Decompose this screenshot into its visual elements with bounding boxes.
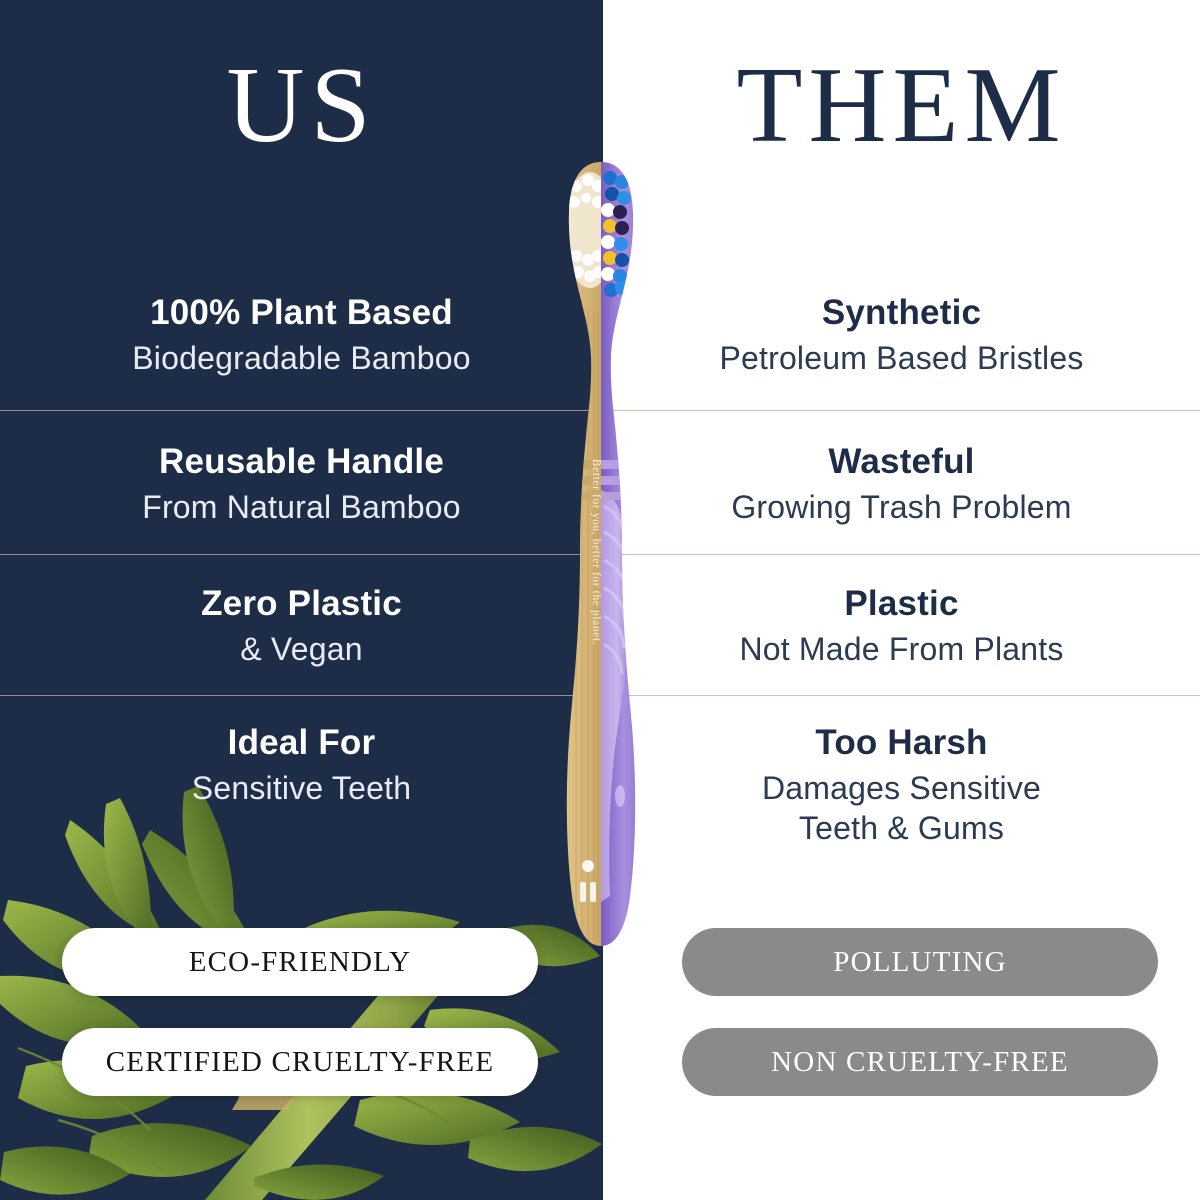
row-4-them-cell: Too Harsh Damages Sensitive Teeth & Gums — [603, 722, 1200, 848]
row-1-us-title: 100% Plant Based — [0, 292, 603, 333]
badge-non-cruelty-free[interactable]: NON CRUELTY-FREE — [682, 1028, 1158, 1096]
row-4-them-sub-1: Damages Sensitive — [603, 770, 1200, 808]
row-3-us-cell: Zero Plastic & Vegan — [0, 583, 603, 669]
row-2-us-title: Reusable Handle — [0, 441, 603, 482]
row-2-them-title: Wasteful — [603, 441, 1200, 482]
row-2-them-sub: Growing Trash Problem — [603, 489, 1200, 527]
row-3-them-cell: Plastic Not Made From Plants — [603, 583, 1200, 669]
row-3-them-title: Plastic — [603, 583, 1200, 624]
badge-polluting[interactable]: POLLUTING — [682, 928, 1158, 996]
row-1-us-cell: 100% Plant Based Biodegradable Bamboo — [0, 292, 603, 378]
row-3-us-sub: & Vegan — [0, 631, 603, 669]
row-3-us-title: Zero Plastic — [0, 583, 603, 624]
row-2-them-cell: Wasteful Growing Trash Problem — [603, 441, 1200, 527]
row-4-them-sub-2: Teeth & Gums — [603, 810, 1200, 848]
toothbrush-product-image: Better for you, better for the planet. — [536, 160, 666, 950]
badge-eco-friendly[interactable]: ECO-FRIENDLY — [62, 928, 538, 996]
row-1-them-title: Synthetic — [603, 292, 1200, 333]
row-4-us-title: Ideal For — [0, 722, 603, 763]
row-3-them-sub: Not Made From Plants — [603, 631, 1200, 669]
row-1-them-sub: Petroleum Based Bristles — [603, 340, 1200, 378]
badge-certified-cruelty-free[interactable]: CERTIFIED CRUELTY-FREE — [62, 1028, 538, 1096]
row-4-us-sub: Sensitive Teeth — [0, 770, 603, 808]
row-1-them-cell: Synthetic Petroleum Based Bristles — [603, 292, 1200, 378]
row-2-us-sub: From Natural Bamboo — [0, 489, 603, 527]
row-2-us-cell: Reusable Handle From Natural Bamboo — [0, 441, 603, 527]
comparison-infographic: US THEM 100% Plant Based Biodegradable B… — [0, 0, 1200, 1200]
handle-engraving-text: Better for you, better for the planet. — [590, 459, 602, 645]
row-1-us-sub: Biodegradable Bamboo — [0, 340, 603, 378]
row-4-us-cell: Ideal For Sensitive Teeth — [0, 722, 603, 808]
row-4-them-title: Too Harsh — [603, 722, 1200, 763]
